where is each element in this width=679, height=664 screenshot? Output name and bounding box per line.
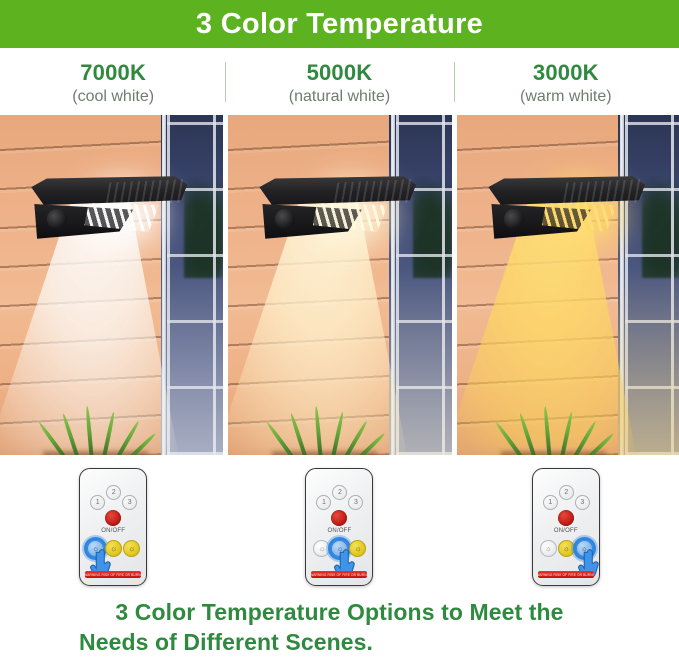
mode-button-cool-white[interactable]: ☼ [540, 540, 557, 557]
grass-blade [314, 406, 323, 455]
mode-button-row: ☼ ☼ ☼ [540, 538, 592, 558]
kelvin-value-5000k: 5000K [307, 60, 373, 85]
mode-button-natural-white[interactable]: ☼ [558, 540, 575, 557]
kelvin-value-3000k: 3000K [533, 60, 599, 85]
label-divider-left [225, 62, 226, 102]
remote-cell-warm-white: 1 2 3 ON/OFF ☼ ☼ ☼ WARNING RISK OF FIRE … [453, 455, 679, 595]
mode-button-natural-white[interactable]: ☼ [331, 540, 348, 557]
house-window [618, 115, 679, 455]
remote-control-row: 1 2 3 ON/OFF ☼ ☼ ☼ WARNING RISK OF FIRE … [0, 455, 679, 595]
scene-photo-warm-white [457, 115, 679, 455]
footer-caption: 3 Color Temperature Options to Meet the … [0, 595, 679, 664]
footer-line-1: 3 Color Temperature Options to Meet the [115, 597, 563, 627]
remote-button-2[interactable]: 2 [332, 485, 347, 500]
remote-natural-white[interactable]: 1 2 3 ON/OFF ☼ ☼ ☼ WARNING RISK OF FIRE … [305, 468, 373, 586]
kelvin-description-natural-white: (natural white) [289, 86, 390, 107]
warning-strip-text: WARNING RISK OF FIRE OR BURNS [85, 573, 141, 577]
remote-button-1[interactable]: 1 [316, 495, 331, 510]
power-button[interactable] [331, 510, 347, 526]
remote-button-3[interactable]: 3 [575, 495, 590, 510]
motion-sensor-icon [275, 209, 295, 228]
power-button-label: ON/OFF [533, 528, 599, 534]
mode-button-row: ☼ ☼ ☼ [87, 538, 139, 558]
color-temperature-label-row: 7000K (cool white) 5000K (natural white)… [0, 48, 679, 115]
grass-blade [330, 411, 345, 455]
mode-button-warm-white[interactable]: ☼ [349, 540, 366, 557]
solar-wall-light [259, 176, 416, 251]
mode-button-warm-white[interactable]: ☼ [123, 540, 140, 557]
remote-button-1[interactable]: 1 [90, 495, 105, 510]
warning-strip: WARNING RISK OF FIRE OR BURNS [538, 571, 594, 578]
grass-blade [559, 411, 574, 455]
remote-warm-white[interactable]: 1 2 3 ON/OFF ☼ ☼ ☼ WARNING RISK OF FIRE … [532, 468, 600, 586]
power-button-label: ON/OFF [306, 528, 372, 534]
ornamental-grass [49, 411, 143, 455]
power-button[interactable] [558, 510, 574, 526]
house-window [161, 115, 223, 455]
label-warm-white: 3000K (warm white) [453, 48, 679, 115]
kelvin-description-warm-white: (warm white) [520, 86, 612, 107]
warning-strip: WARNING RISK OF FIRE OR BURNS [311, 571, 367, 578]
power-button[interactable] [105, 510, 121, 526]
remote-button-3[interactable]: 3 [348, 495, 363, 510]
kelvin-value-7000k: 7000K [80, 60, 146, 85]
remote-cell-natural-white: 1 2 3 ON/OFF ☼ ☼ ☼ WARNING RISK OF FIRE … [226, 455, 452, 595]
remote-button-2[interactable]: 2 [106, 485, 121, 500]
remote-button-1[interactable]: 1 [543, 495, 558, 510]
scene-photo-natural-white [228, 115, 452, 455]
remote-button-3[interactable]: 3 [122, 495, 137, 510]
warning-strip-text: WARNING RISK OF FIRE OR BURNS [311, 573, 367, 577]
grass-blade [290, 413, 310, 455]
label-natural-white: 5000K (natural white) [226, 48, 452, 115]
mode-button-warm-white[interactable]: ☼ [576, 540, 593, 557]
house-window [389, 115, 452, 455]
footer-line-2: Needs of Different Scenes. [79, 627, 373, 657]
remote-button-2[interactable]: 2 [559, 485, 574, 500]
mode-button-cool-white[interactable]: ☼ [87, 540, 104, 557]
grass-blade [519, 413, 539, 455]
mode-button-cool-white[interactable]: ☼ [313, 540, 330, 557]
grass-blade [543, 406, 552, 455]
kelvin-description-cool-white: (cool white) [72, 86, 154, 107]
scene-photo-row [0, 115, 679, 455]
power-button-label: ON/OFF [80, 528, 146, 534]
grass-blade [85, 406, 94, 455]
ornamental-grass [277, 411, 371, 455]
header-banner: 3 Color Temperature [0, 0, 679, 48]
remote-cool-white[interactable]: 1 2 3 ON/OFF ☼ ☼ ☼ WARNING RISK OF FIRE … [79, 468, 147, 586]
ornamental-grass [506, 411, 600, 455]
remote-cell-cool-white: 1 2 3 ON/OFF ☼ ☼ ☼ WARNING RISK OF FIRE … [0, 455, 226, 595]
label-divider-right [454, 62, 455, 102]
warning-strip-text: WARNING RISK OF FIRE OR BURNS [538, 573, 594, 577]
warning-strip: WARNING RISK OF FIRE OR BURNS [85, 571, 141, 578]
mode-button-row: ☼ ☼ ☼ [313, 538, 365, 558]
motion-sensor-icon [504, 209, 524, 228]
grass-blade [61, 413, 81, 455]
solar-wall-light [488, 176, 645, 251]
mode-button-natural-white[interactable]: ☼ [105, 540, 122, 557]
scene-photo-cool-white [0, 115, 223, 455]
grass-blade [102, 411, 117, 455]
label-cool-white: 7000K (cool white) [0, 48, 226, 115]
page-title: 3 Color Temperature [196, 8, 483, 41]
motion-sensor-icon [47, 209, 67, 228]
solar-wall-light [31, 176, 187, 251]
